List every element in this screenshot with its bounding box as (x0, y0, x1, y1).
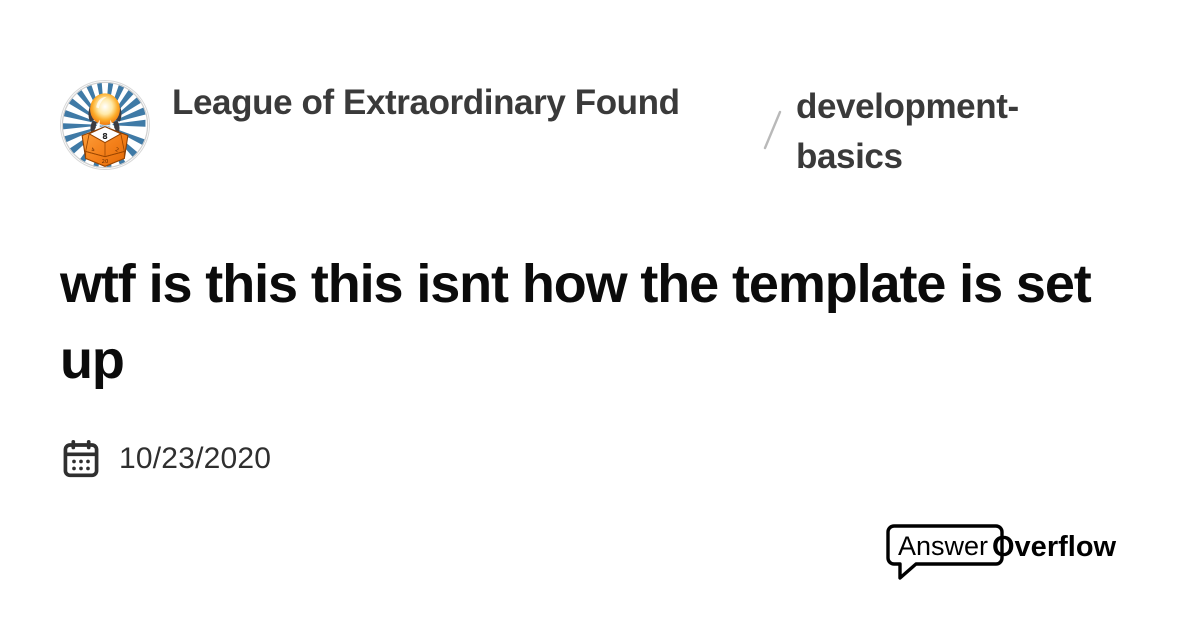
calendar-icon (60, 438, 102, 480)
channel-name: development-basics (796, 78, 1096, 182)
svg-text:20: 20 (102, 159, 109, 165)
speech-bubble-icon: Answer Overflow (886, 521, 1118, 583)
brand-name-light: Answer (898, 531, 988, 561)
date-row: 10/23/2020 (60, 438, 271, 480)
answer-overflow-logo: Answer Overflow (886, 520, 1118, 584)
thread-date: 10/23/2020 (119, 438, 271, 480)
slash-icon (760, 108, 786, 152)
server-name: League of Extraordinary Found (172, 78, 680, 128)
brand-name-bold: Overflow (992, 531, 1117, 563)
server-block: 8 4 2 20 League of Extraordinary Found (60, 78, 750, 170)
header: 8 4 2 20 League of Extraordinary Found d… (60, 78, 1140, 188)
og-preview-card: 8 4 2 20 League of Extraordinary Found d… (0, 0, 1200, 630)
svg-text:8: 8 (102, 132, 108, 141)
page-title: wtf is this this isnt how the template i… (60, 246, 1130, 398)
breadcrumb-separator (750, 78, 796, 152)
avatar: 8 4 2 20 (60, 80, 150, 170)
server-avatar-image: 8 4 2 20 (61, 81, 149, 169)
